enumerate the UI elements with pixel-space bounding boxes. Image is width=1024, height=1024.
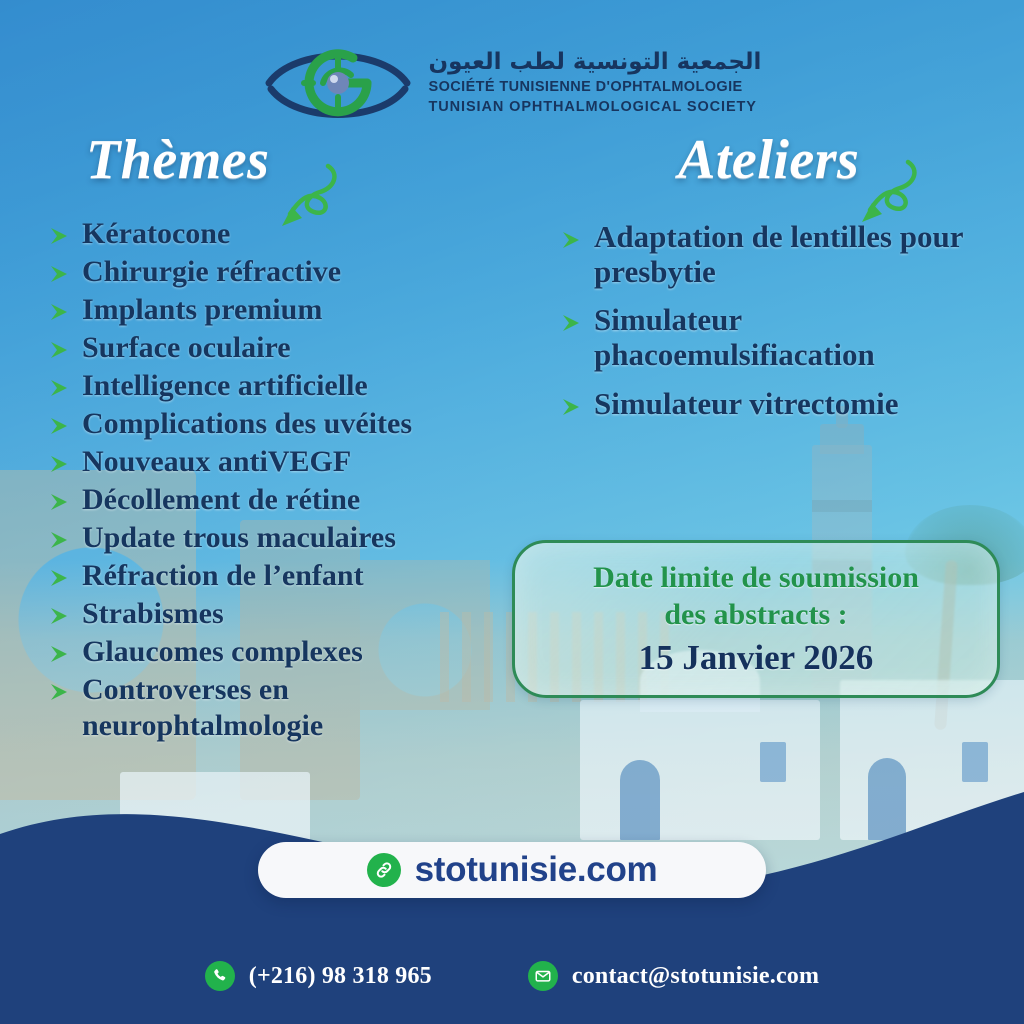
list-item: Implants premium xyxy=(48,292,518,328)
brand-header: الجمعية التونسية لطب العيون SOCIÉTÉ TUNI… xyxy=(0,28,1024,138)
email-contact[interactable]: contact@stotunisie.com xyxy=(528,961,819,991)
arrow-bullet-icon xyxy=(48,263,70,285)
arrow-bullet-icon xyxy=(48,377,70,399)
arrow-bullet-icon xyxy=(48,301,70,323)
website-pill[interactable]: stotunisie.com xyxy=(258,842,766,898)
theme-label: Update trous maculaires xyxy=(82,520,396,556)
arrow-bullet-icon xyxy=(560,312,582,334)
list-item: Décollement de rétine xyxy=(48,482,518,518)
brand-english-name: TUNISIAN OPHTHALMOLOGICAL SOCIETY xyxy=(429,98,762,116)
link-icon xyxy=(367,853,401,887)
deadline-date: 15 Janvier 2026 xyxy=(639,638,874,678)
list-item: Surface oculaire xyxy=(48,330,518,366)
website-url: stotunisie.com xyxy=(415,850,658,890)
ateliers-column: Ateliers Adaptation de lentilles pour pr… xyxy=(560,132,1000,436)
ateliers-title: Ateliers xyxy=(678,132,1000,188)
brand-arabic-name: الجمعية التونسية لطب العيون xyxy=(429,50,762,75)
arrow-bullet-icon xyxy=(48,681,70,703)
list-item: Simulateur vitrectomie xyxy=(560,387,1000,422)
theme-label: Complications des uvéites xyxy=(82,406,412,442)
themes-list: Kératocone Chirurgie réfractive Implants… xyxy=(48,216,518,744)
phone-icon xyxy=(205,961,235,991)
abstract-deadline-box: Date limite de soumission des abstracts … xyxy=(512,540,1000,698)
arrow-bullet-icon xyxy=(48,491,70,513)
theme-label: Décollement de rétine xyxy=(82,482,360,518)
list-item: Nouveaux antiVEGF xyxy=(48,444,518,480)
arrow-bullet-icon xyxy=(48,453,70,475)
theme-label: Réfraction de l’enfant xyxy=(82,558,364,594)
theme-label: Chirurgie réfractive xyxy=(82,254,341,290)
ateliers-list: Adaptation de lentilles pour presbytie S… xyxy=(560,220,1000,422)
arrow-bullet-icon xyxy=(48,339,70,361)
arrow-bullet-icon xyxy=(48,643,70,665)
arrow-bullet-icon xyxy=(560,229,582,251)
theme-label: Strabismes xyxy=(82,596,224,632)
list-item: Intelligence artificielle xyxy=(48,368,518,404)
phone-number: (+216) 98 318 965 xyxy=(249,963,432,990)
list-item: Chirurgie réfractive xyxy=(48,254,518,290)
atelier-label: Simulateur phacoemulsifiacation xyxy=(594,303,1000,372)
list-item: Controverses en neurophtalmologie xyxy=(48,672,518,744)
arrow-bullet-icon xyxy=(48,529,70,551)
themes-title: Thèmes xyxy=(86,132,518,188)
list-item: Strabismes xyxy=(48,596,518,632)
list-item: Kératocone xyxy=(48,216,518,252)
theme-label: Glaucomes complexes xyxy=(82,634,363,670)
arrow-bullet-icon xyxy=(560,396,582,418)
deadline-line-2: des abstracts : xyxy=(664,597,847,632)
atelier-label: Adaptation de lentilles pour presbytie xyxy=(594,220,1000,289)
theme-label: Kératocone xyxy=(82,216,230,252)
theme-label: Intelligence artificielle xyxy=(82,368,368,404)
arrow-bullet-icon xyxy=(48,225,70,247)
themes-column: Thèmes Kératocone Chirurgie réfractive I… xyxy=(48,132,518,746)
arrow-bullet-icon xyxy=(48,415,70,437)
brand-french-name: SOCIÉTÉ TUNISIENNE D'OPHTALMOLOGIE xyxy=(429,78,762,96)
mail-icon xyxy=(528,961,558,991)
phone-contact[interactable]: (+216) 98 318 965 xyxy=(205,961,432,991)
eye-target-logo xyxy=(263,39,413,127)
atelier-label: Simulateur vitrectomie xyxy=(594,387,898,422)
theme-label: Controverses en neurophtalmologie xyxy=(82,672,518,744)
email-address: contact@stotunisie.com xyxy=(572,963,819,990)
list-item: Simulateur phacoemulsifiacation xyxy=(560,303,1000,372)
theme-label: Implants premium xyxy=(82,292,322,328)
list-item: Réfraction de l’enfant xyxy=(48,558,518,594)
arrow-bullet-icon xyxy=(48,567,70,589)
list-item: Glaucomes complexes xyxy=(48,634,518,670)
deadline-line-1: Date limite de soumission xyxy=(593,560,919,595)
brand-names: الجمعية التونسية لطب العيون SOCIÉTÉ TUNI… xyxy=(429,50,762,116)
theme-label: Nouveaux antiVEGF xyxy=(82,444,351,480)
list-item: Complications des uvéites xyxy=(48,406,518,442)
list-item: Adaptation de lentilles pour presbytie xyxy=(560,220,1000,289)
arrow-bullet-icon xyxy=(48,605,70,627)
contact-bar: (+216) 98 318 965 contact@stotunisie.com xyxy=(0,956,1024,996)
list-item: Update trous maculaires xyxy=(48,520,518,556)
theme-label: Surface oculaire xyxy=(82,330,291,366)
poster: الجمعية التونسية لطب العيون SOCIÉTÉ TUNI… xyxy=(0,0,1024,1024)
